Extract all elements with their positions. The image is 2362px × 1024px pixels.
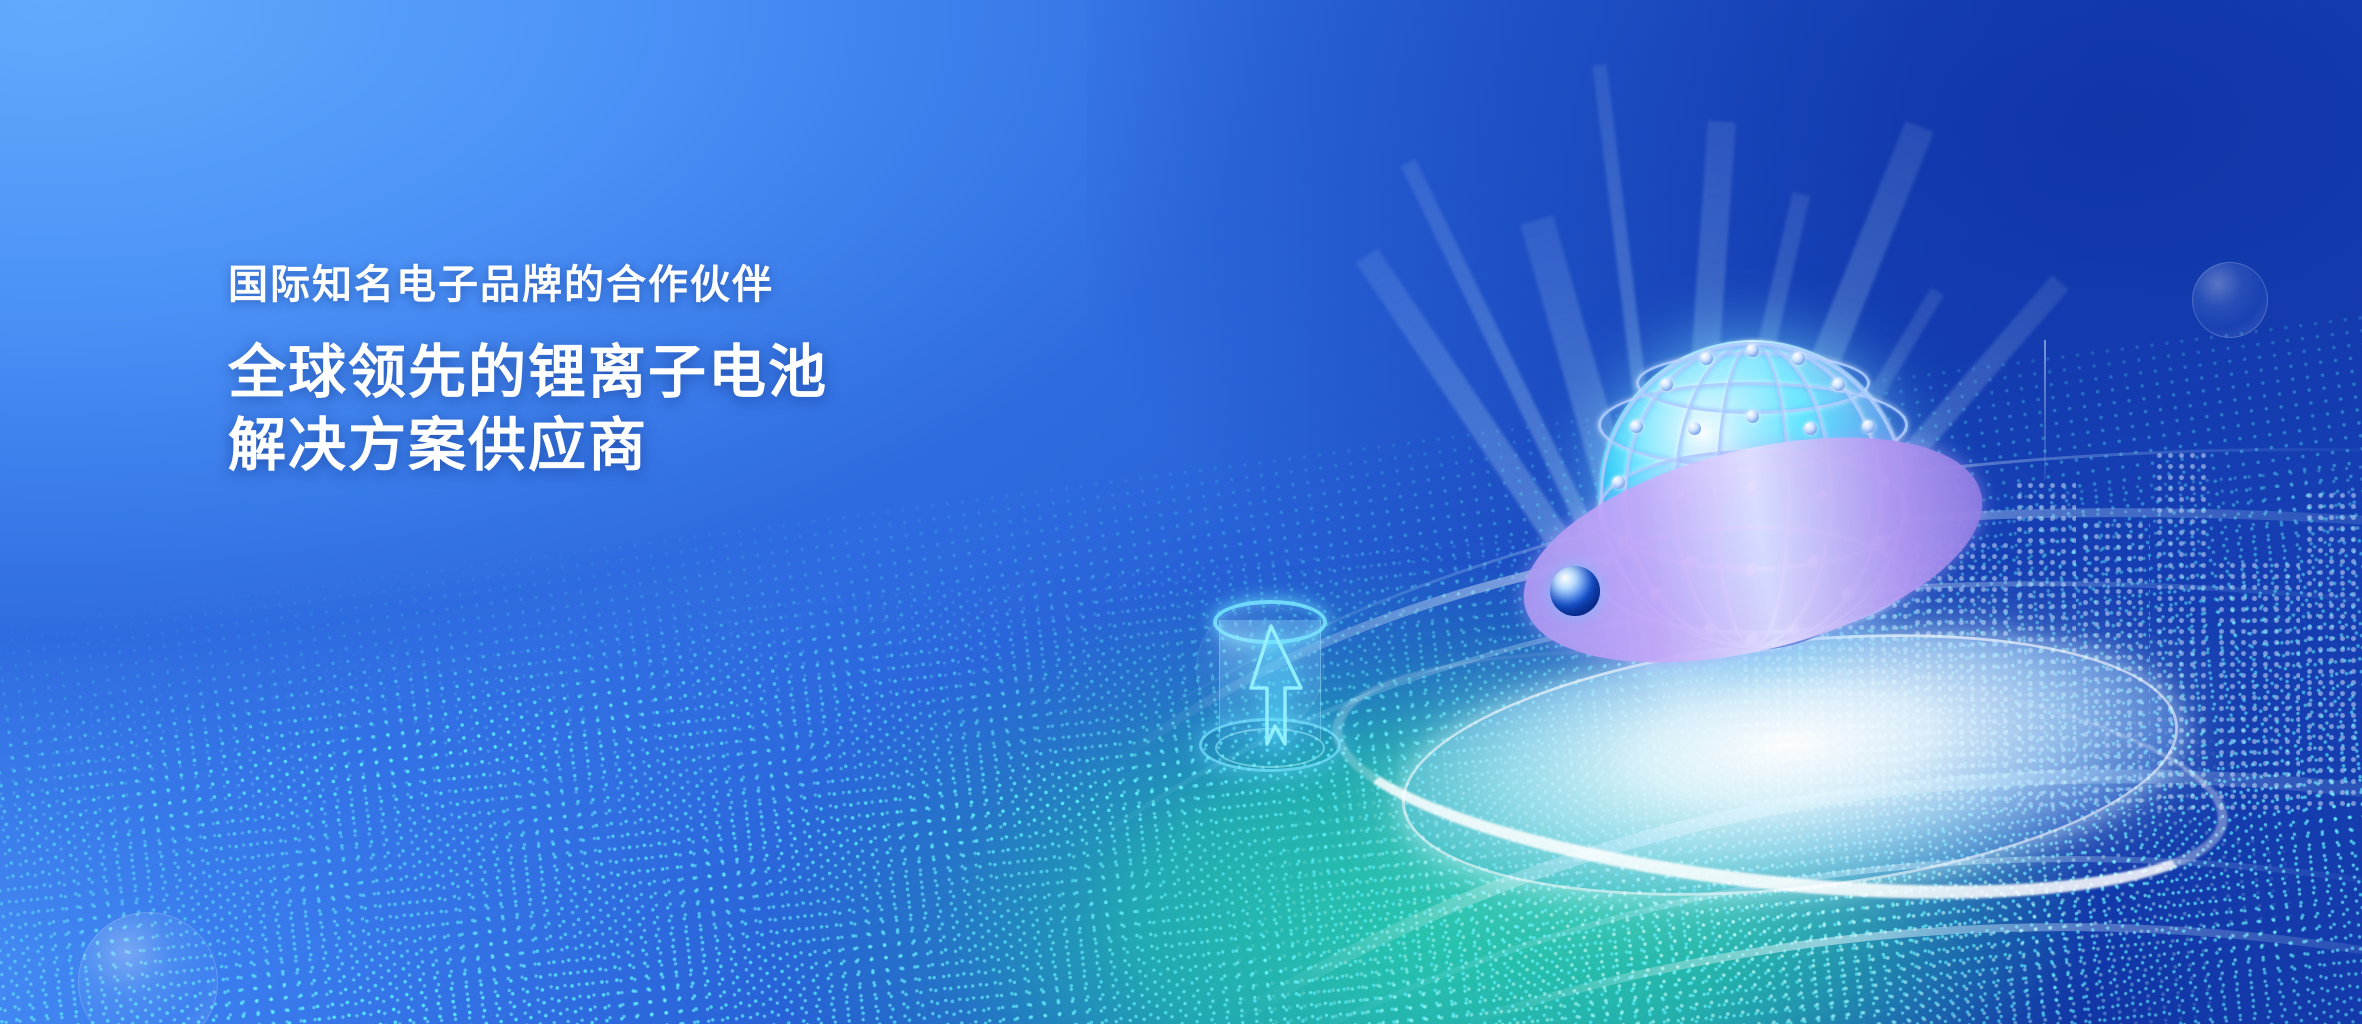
bubble-icon [1196, 604, 1324, 732]
banner-headline-line-1: 全球领先的锂离子电池 [228, 336, 1088, 409]
wireframe-globe-icon [1588, 330, 1918, 660]
banner-headline: 全球领先的锂离子电池 解决方案供应商 [228, 336, 1088, 482]
banner-headline-line-2: 解决方案供应商 [228, 409, 1088, 482]
banner-copy: 国际知名电子品牌的合作伙伴 全球领先的锂离子电池 解决方案供应商 [228, 252, 1088, 482]
orbit-node-sphere-icon [1550, 566, 1600, 616]
banner-eyebrow: 国际知名电子品牌的合作伙伴 [228, 252, 1088, 310]
bubble-icon [2192, 262, 2268, 338]
hero-banner: 国际知名电子品牌的合作伙伴 全球领先的锂离子电池 解决方案供应商 [0, 0, 2362, 1024]
